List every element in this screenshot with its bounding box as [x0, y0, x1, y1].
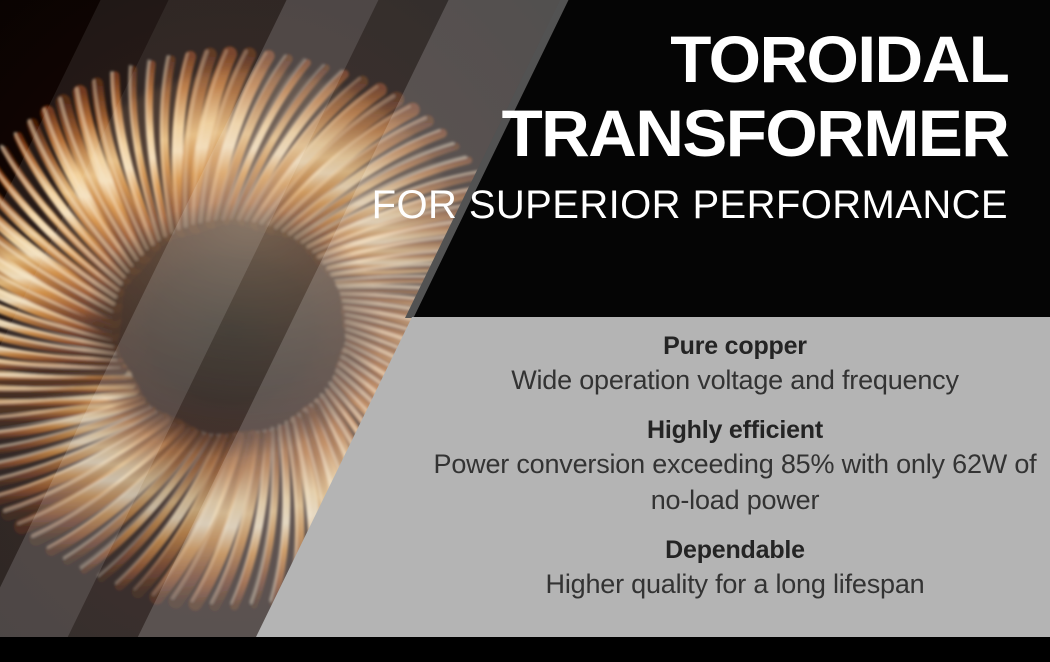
feature-description: Power conversion exceeding 85% with only… [430, 446, 1040, 518]
feature-list: Pure copper Wide operation voltage and f… [430, 330, 1040, 602]
feature-title: Highly efficient [430, 414, 1040, 446]
feature-description: Wide operation voltage and frequency [430, 362, 1040, 398]
feature-item: Dependable Higher quality for a long lif… [430, 534, 1040, 602]
product-banner: TOROIDAL TRANSFORMER FOR SUPERIOR PERFOR… [0, 0, 1050, 662]
feature-item: Highly efficient Power conversion exceed… [430, 414, 1040, 518]
feature-item: Pure copper Wide operation voltage and f… [430, 330, 1040, 398]
title-line-1: TOROIDAL [359, 22, 1008, 96]
subtitle: FOR SUPERIOR PERFORMANCE [372, 182, 1008, 228]
feature-description: Higher quality for a long lifespan [430, 566, 1040, 602]
bottom-bar [0, 637, 1050, 662]
headline-block: TOROIDAL TRANSFORMER FOR SUPERIOR PERFOR… [372, 22, 1008, 228]
title-line-2: TRANSFORMER [359, 96, 1008, 170]
feature-title: Pure copper [430, 330, 1040, 362]
feature-title: Dependable [430, 534, 1040, 566]
